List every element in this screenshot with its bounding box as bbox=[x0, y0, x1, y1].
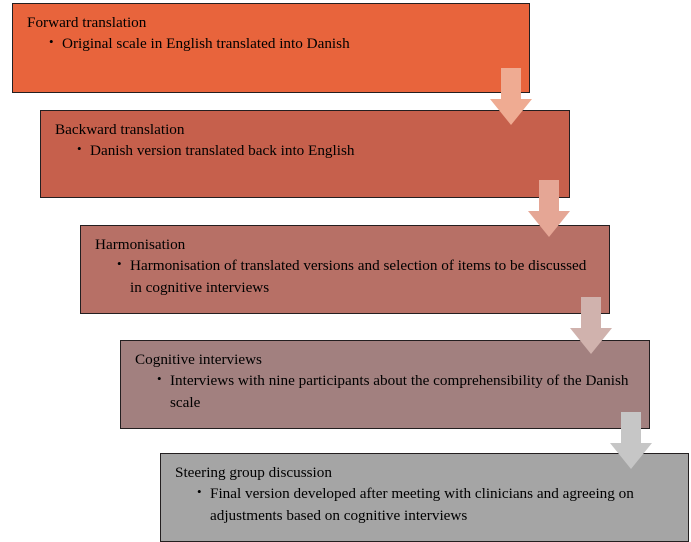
step-box-forward-translation: Forward translation Original scale in En… bbox=[12, 3, 530, 93]
step-title: Harmonisation bbox=[95, 235, 595, 254]
step-bullet: Danish version translated back into Engl… bbox=[77, 140, 555, 162]
step-bullet-list: Final version developed after meeting wi… bbox=[175, 483, 674, 526]
step-title: Cognitive interviews bbox=[135, 350, 635, 369]
arrow-down-icon-forward-to-backward bbox=[490, 68, 532, 125]
step-title: Backward translation bbox=[55, 120, 555, 139]
arrow-down-icon-backward-to-harmonisation bbox=[528, 180, 570, 237]
arrow-down-icon-harmonisation-to-cognitive bbox=[570, 297, 612, 354]
step-content: Forward translation Original scale in En… bbox=[13, 4, 529, 55]
step-box-harmonisation: Harmonisation Harmonisation of translate… bbox=[80, 225, 610, 314]
step-bullet: Harmonisation of translated versions and… bbox=[117, 255, 595, 298]
process-flow-diagram: Forward translation Original scale in En… bbox=[0, 0, 691, 542]
step-bullet-list: Harmonisation of translated versions and… bbox=[95, 255, 595, 298]
step-bullet: Interviews with nine participants about … bbox=[157, 370, 635, 413]
arrow-down-icon-cognitive-to-steering bbox=[610, 412, 652, 469]
step-content: Steering group discussion Final version … bbox=[161, 454, 688, 527]
step-bullet-list: Original scale in English translated int… bbox=[27, 33, 515, 55]
step-bullet: Final version developed after meeting wi… bbox=[197, 483, 674, 526]
step-bullet-list: Danish version translated back into Engl… bbox=[55, 140, 555, 162]
step-title: Steering group discussion bbox=[175, 463, 674, 482]
step-bullet: Original scale in English translated int… bbox=[49, 33, 515, 55]
step-bullet-list: Interviews with nine participants about … bbox=[135, 370, 635, 413]
step-title: Forward translation bbox=[27, 13, 515, 32]
